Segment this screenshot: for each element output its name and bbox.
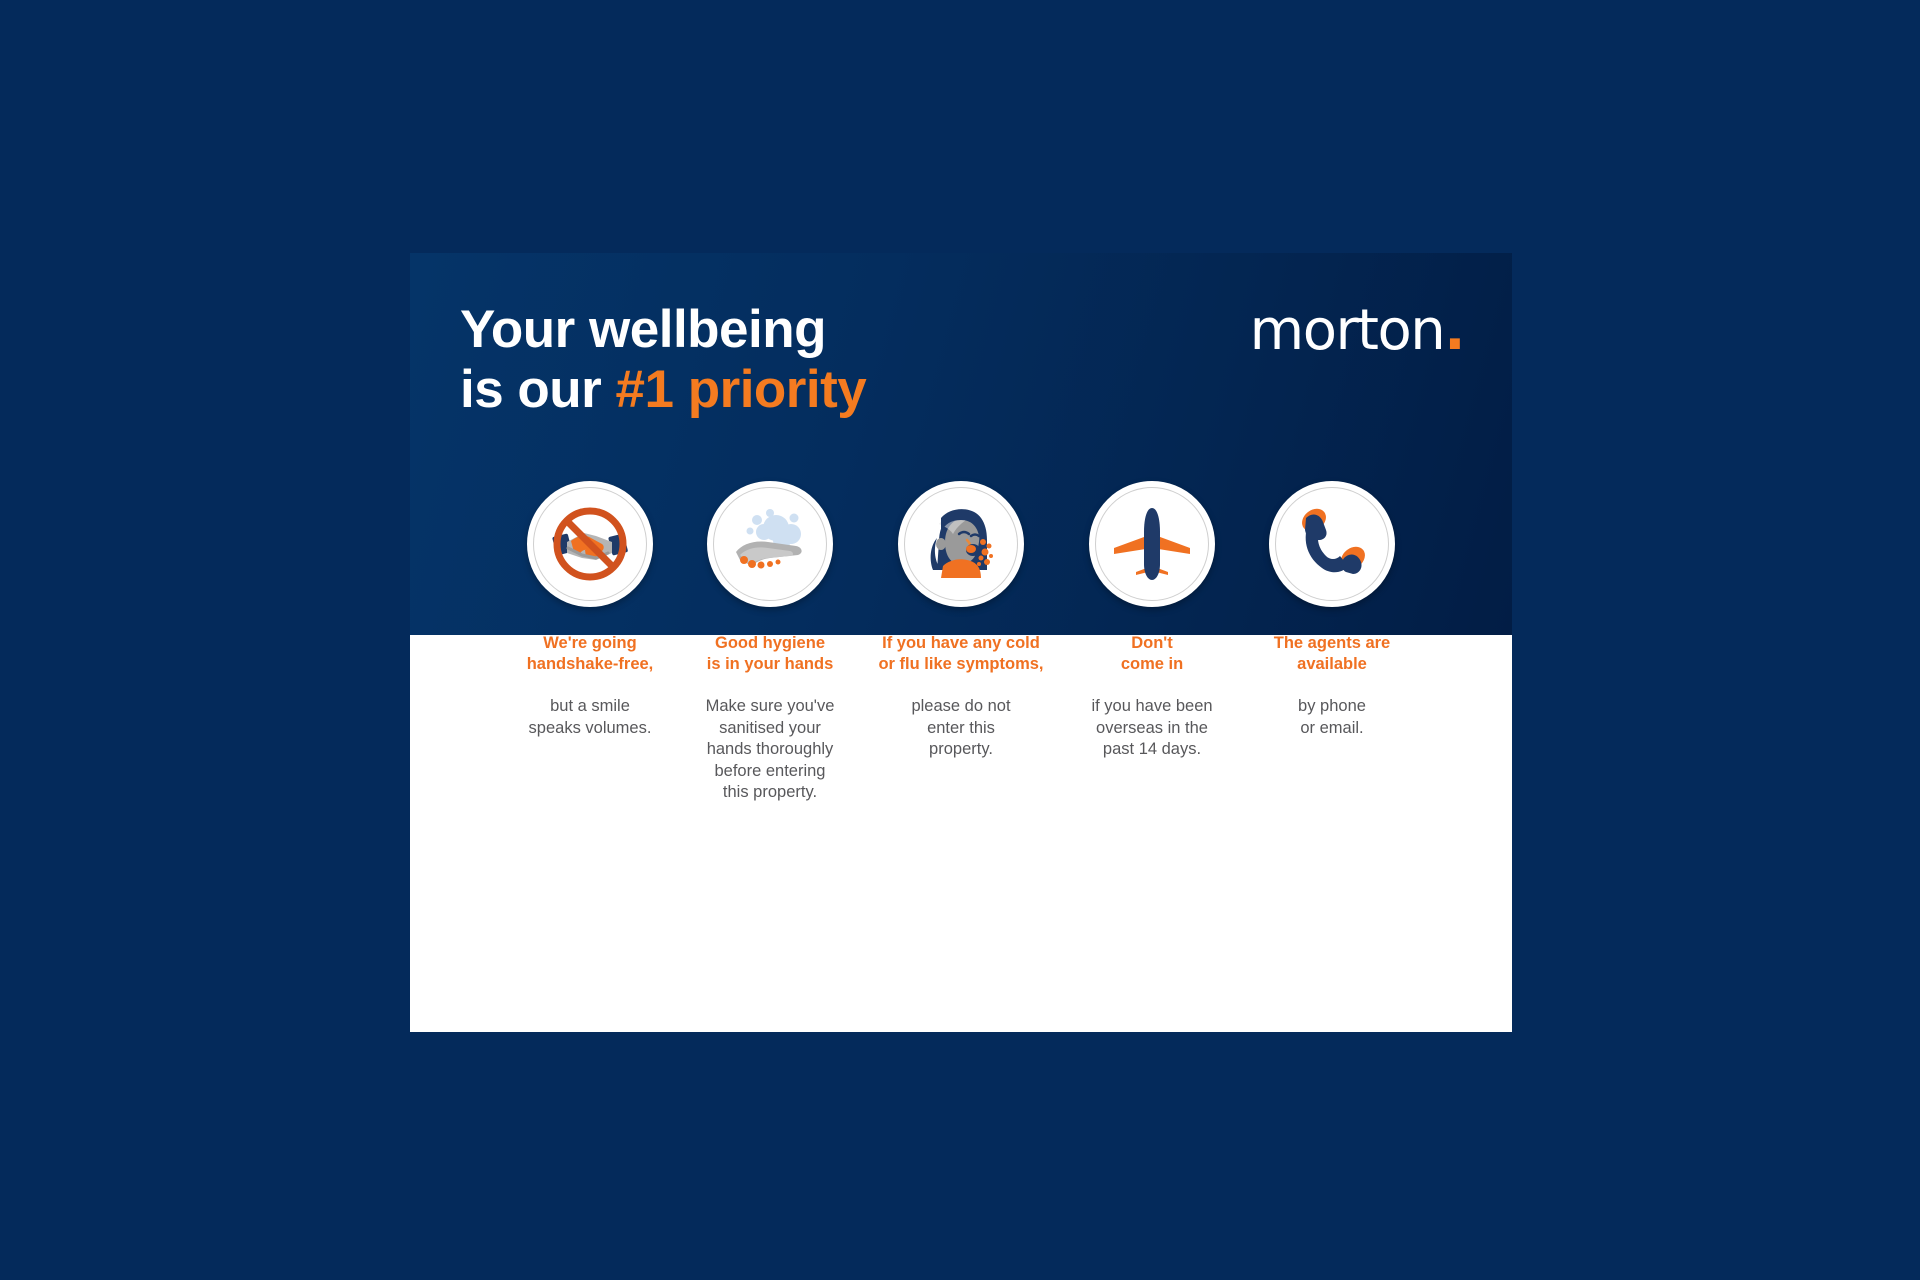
airplane-icon	[1106, 498, 1198, 590]
headline-line-1: Your wellbeing	[460, 300, 866, 360]
wellbeing-poster: Your wellbeing is our #1 priority morton…	[410, 253, 1512, 1032]
advice-body: if you have been overseas in the past 14…	[1091, 696, 1212, 760]
no-handshake-badge	[527, 481, 653, 607]
advice-title: The agents are available	[1274, 633, 1390, 674]
headline-line-2-plain: is our	[460, 360, 616, 419]
headline-accent: #1 priority	[616, 360, 867, 419]
advice-column-symptoms: If you have any cold or flu like symptom…	[870, 481, 1052, 761]
advice-body: but a smile speaks volumes.	[529, 696, 652, 739]
sneezing-person-icon	[915, 498, 1007, 590]
logo-wordmark: morton	[1250, 298, 1445, 363]
advice-column-hygiene: Good hygiene is in your hands Make sure …	[690, 481, 850, 803]
washing-hands-icon	[724, 498, 816, 590]
page-title: Your wellbeing is our #1 priority	[460, 300, 866, 420]
advice-title: Don't come in	[1121, 633, 1183, 674]
advice-title: We're going handshake-free,	[527, 633, 654, 674]
advice-columns: We're going handshake-free, but a smile …	[410, 481, 1512, 803]
no-handshake-icon	[544, 498, 636, 590]
advice-body: by phone or email.	[1298, 696, 1366, 739]
advice-title: If you have any cold or flu like symptom…	[878, 633, 1043, 674]
logo-dot: .	[1444, 298, 1464, 363]
advice-column-contact: The agents are available by phone or ema…	[1252, 481, 1412, 739]
telephone-icon	[1286, 498, 1378, 590]
morton-logo: morton.	[1250, 303, 1464, 359]
washing-hands-badge	[707, 481, 833, 607]
telephone-badge	[1269, 481, 1395, 607]
advice-column-handshake: We're going handshake-free, but a smile …	[510, 481, 670, 739]
advice-body: please do not enter this property.	[911, 696, 1010, 760]
headline-line-2: is our #1 priority	[460, 360, 866, 420]
airplane-badge	[1089, 481, 1215, 607]
advice-column-travel: Don't come in if you have been overseas …	[1072, 481, 1232, 761]
advice-title: Good hygiene is in your hands	[707, 633, 834, 674]
advice-body: Make sure you've sanitised your hands th…	[706, 696, 835, 803]
sneezing-person-badge	[898, 481, 1024, 607]
